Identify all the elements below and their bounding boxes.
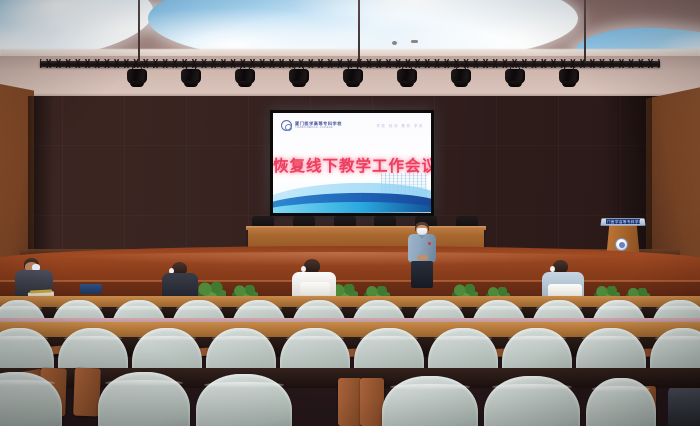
- seat-cover-cloth: [548, 284, 582, 296]
- seat-cover-cloth: [300, 282, 330, 295]
- slide-corner-text: 学校 校训 教风 学风: [376, 123, 424, 128]
- audience-seat[interactable]: [484, 376, 580, 426]
- school-emblem-icon: [615, 238, 628, 251]
- audience-seat[interactable]: [98, 372, 190, 426]
- bag: [80, 284, 102, 294]
- slide-school-logo: 厦门医学高等专科学校 XIAMEN MEDICAL COLLEGE: [281, 120, 342, 131]
- conference-hall-photo: 厦门医学高等专科学校 XIAMEN MEDICAL COLLEGE 学校 校训 …: [0, 0, 700, 426]
- audience-seat[interactable]: [382, 376, 478, 426]
- truss-drop-rod: [584, 0, 586, 62]
- ceiling-speaker-icon: [411, 40, 418, 43]
- audience-seat[interactable]: [196, 374, 292, 426]
- school-seal-icon: [281, 120, 292, 131]
- lapel-pin-icon: [428, 242, 431, 245]
- lectern-sign-text: 厦门医学高等专科学校: [606, 219, 640, 224]
- seat-armrest: [73, 368, 101, 417]
- audience-seat[interactable]: [586, 378, 656, 426]
- attendee-left-2: [160, 262, 200, 298]
- truss-drop-rod: [358, 0, 360, 62]
- speaker-hands: [417, 255, 428, 260]
- face-mask-icon: [417, 228, 427, 235]
- slide-logo-line-2: XIAMEN MEDICAL COLLEGE: [295, 127, 342, 129]
- lectern-sign: 厦门医学高等专科学校: [606, 219, 640, 224]
- seat-armrest: [360, 378, 384, 426]
- projection-screen[interactable]: 厦门医学高等专科学校 XIAMEN MEDICAL COLLEGE 学校 校训 …: [270, 110, 434, 216]
- ceiling-sensor-icon: [392, 41, 397, 45]
- truss-drop-rod: [138, 0, 140, 62]
- speaker-trousers: [411, 261, 433, 288]
- standing-speaker: [406, 222, 438, 288]
- seat-armrest: [338, 378, 362, 426]
- presentation-slide: 厦门医学高等专科学校 XIAMEN MEDICAL COLLEGE 学校 校训 …: [273, 113, 431, 213]
- audience-seat[interactable]: [0, 372, 62, 426]
